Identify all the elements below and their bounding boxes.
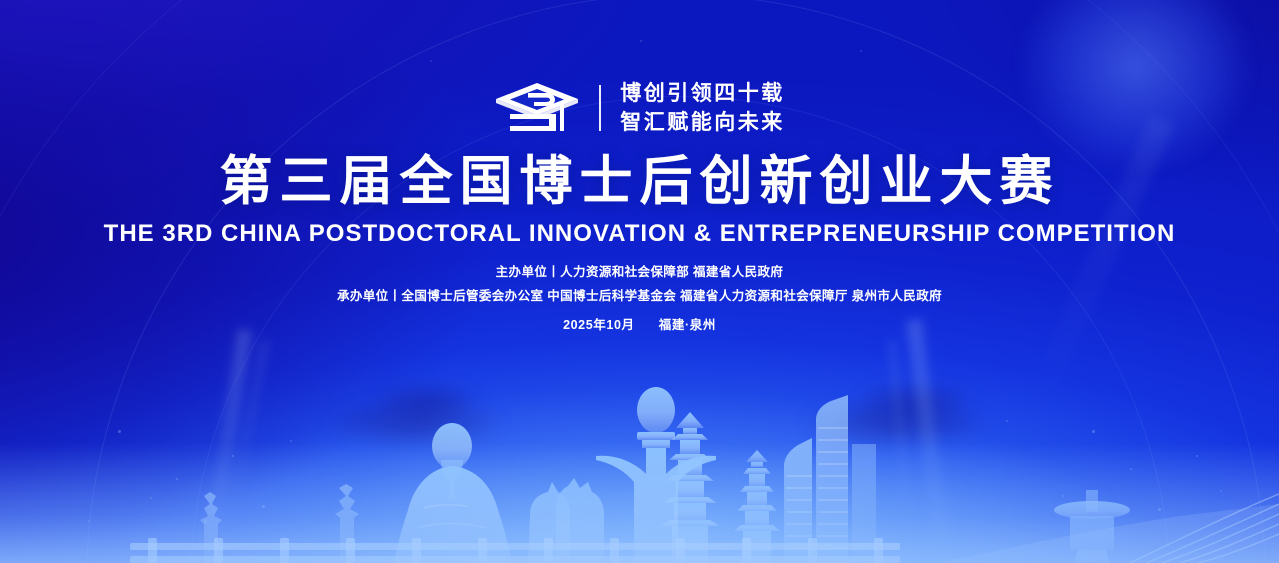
page-title-chinese: 第三届全国博士后创新创业大赛 [0,152,1279,211]
organizer-block: 主办单位丨人力资源和社会保障部 福建省人民政府 承办单位丨全国博士后管委会办公室… [0,260,1279,309]
logo-divider [599,85,601,131]
event-date-location: 2025年10月 福建·泉州 [0,314,1279,333]
slogan-line-2: 智汇赋能向未来 [620,109,785,136]
event-date: 2025年10月 [563,318,635,332]
page-title-english: THE 3RD CHINA POSTDOCTORAL INNOVATION & … [0,220,1279,248]
event-location: 福建·泉州 [659,318,716,332]
organizer-line-coorganizer: 承办单位丨全国博士后管委会办公室 中国博士后科学基金会 福建省人力资源和社会保障… [0,284,1279,308]
organizer-line-host: 主办单位丨人力资源和社会保障部 福建省人民政府 [0,260,1279,284]
slogan-block: 博创引领四十载 智汇赋能向未来 [620,80,785,137]
event-banner: 博创引领四十载 智汇赋能向未来 第三届全国博士后创新创业大赛 THE 3RD C… [0,0,1279,563]
logo-slogan-row: 博创引领四十载 智汇赋能向未来 [0,80,1279,137]
slogan-line-1: 博创引领四十载 [620,80,785,107]
graduation-cap-emblem-icon [494,81,580,135]
